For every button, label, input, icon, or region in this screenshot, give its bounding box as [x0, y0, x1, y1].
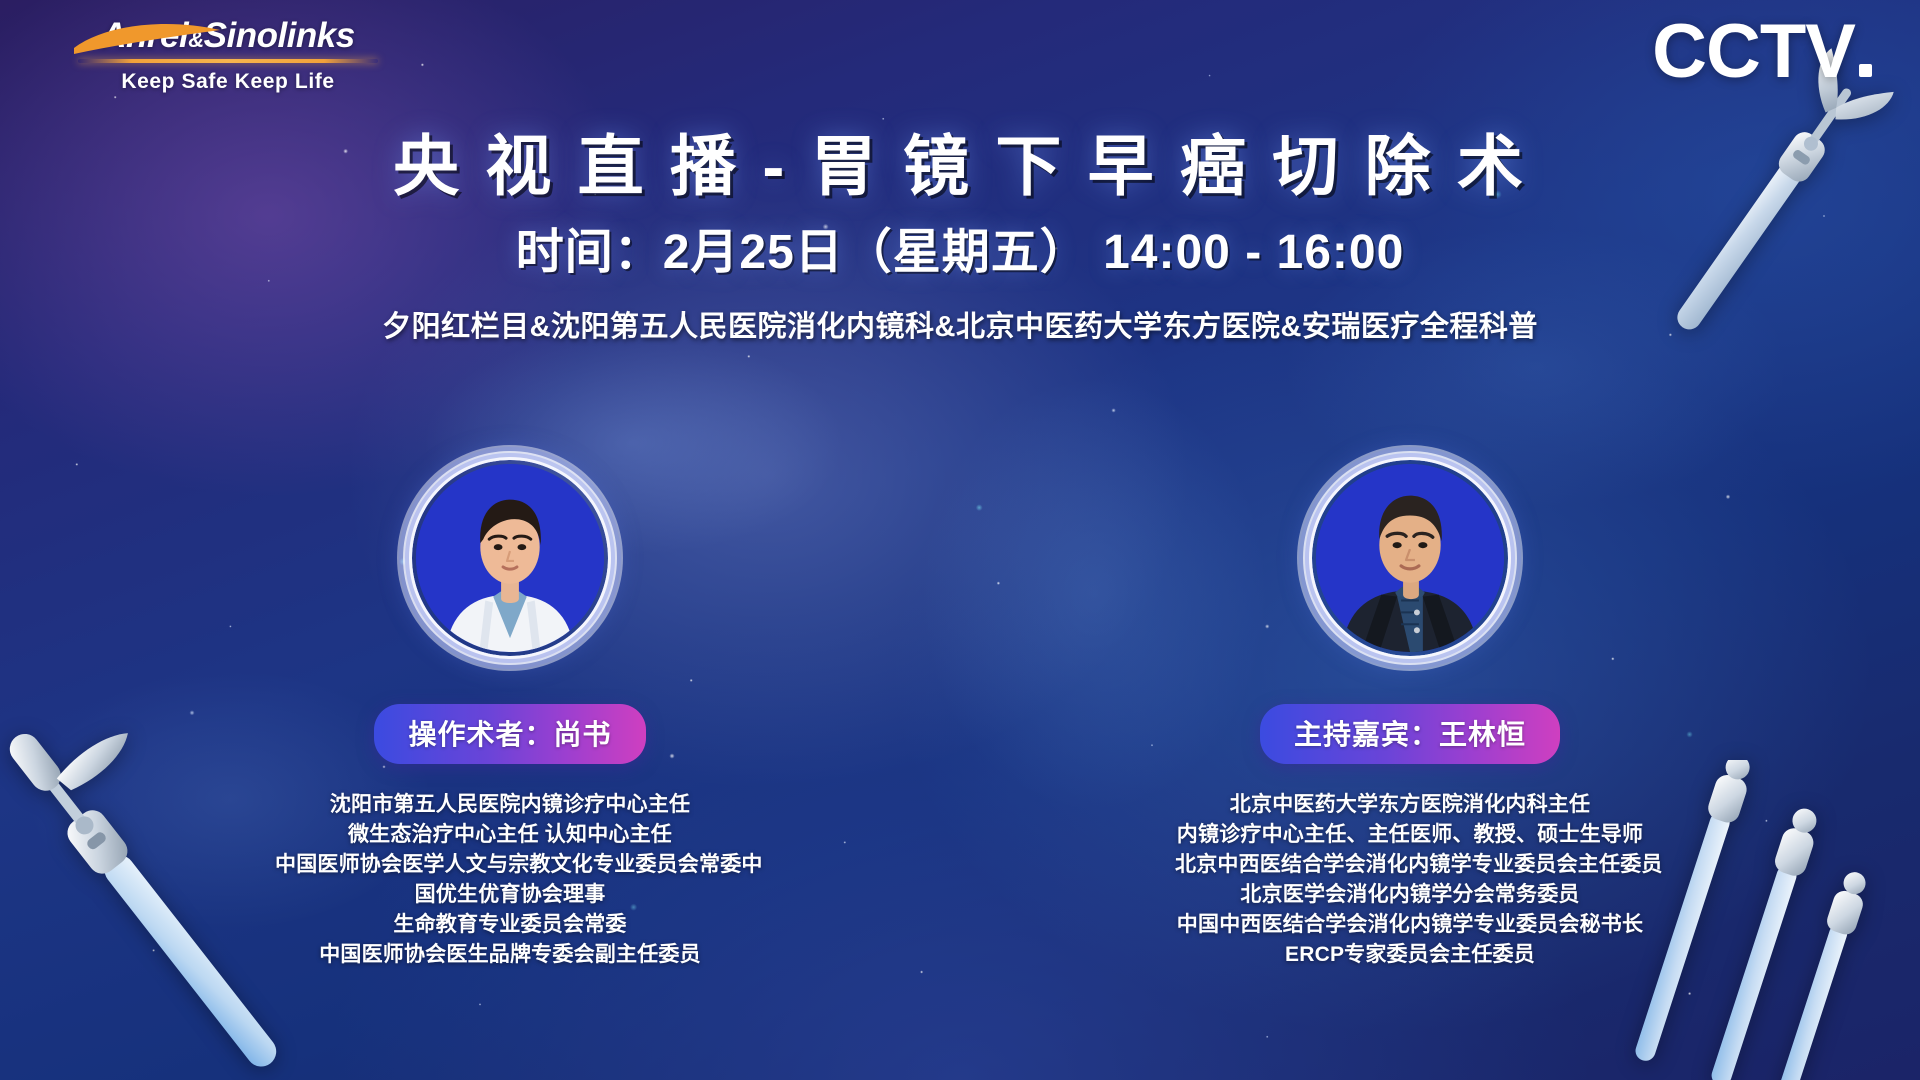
speaker-operator: 操作术者：尚书 沈阳市第五人民医院内镜诊疗中心主任 微生态治疗中心主任 认知中心… — [275, 460, 745, 970]
credential-item: 中国中西医结合学会消化内镜学专业委员会秘书长 — [1175, 910, 1645, 940]
credential-item: 北京医学会消化内镜学分会常务委员 — [1175, 880, 1645, 910]
brand-logo: Anrei&Sinolinks Keep Safe Keep Life — [68, 16, 388, 94]
brand-tagline: Keep Safe Keep Life — [68, 70, 388, 94]
avatar-ring-decoration — [1312, 460, 1508, 656]
event-time: 时间：2月25日（星期五） 14:00 - 16:00 — [0, 224, 1920, 282]
brand-name-part2: Sinolinks — [204, 16, 355, 55]
credential-item: 北京中医药大学东方医院消化内科主任 — [1175, 790, 1645, 820]
cctv-logo-text: CCTV — [1652, 9, 1855, 94]
credential-item: 北京中西医结合学会消化内镜学专业委员会主任委员 — [1175, 850, 1645, 880]
avatar — [1312, 460, 1508, 656]
speaker-name-badge: 主持嘉宾：王林恒 — [1260, 704, 1560, 764]
cctv-logo-dot-icon — [1859, 64, 1872, 77]
speaker-credentials: 北京中医药大学东方医院消化内科主任 内镜诊疗中心主任、主任医师、教授、硕士生导师… — [1175, 790, 1645, 970]
avatar-ring-decoration — [412, 460, 608, 656]
brand-ampersand: & — [188, 27, 203, 52]
credential-item: 中国医师协会医学人文与宗教文化专业委员会常委中 — [275, 850, 745, 880]
speakers-section: 操作术者：尚书 沈阳市第五人民医院内镜诊疗中心主任 微生态治疗中心主任 认知中心… — [0, 460, 1920, 970]
credential-item: 微生态治疗中心主任 认知中心主任 — [275, 820, 745, 850]
headline-block: 央 视 直 播 - 胃 镜 下 早 癌 切 除 术 时间：2月25日（星期五） … — [0, 128, 1920, 345]
credential-item: 国优生优育协会理事 — [275, 880, 745, 910]
organizers-line: 夕阳红栏目&沈阳第五人民医院消化内镜科&北京中医药大学东方医院&安瑞医疗全程科普 — [0, 303, 1920, 345]
credential-item: 中国医师协会医生品牌专委会副主任委员 — [275, 940, 745, 970]
live-broadcast-poster: Anrei&Sinolinks Keep Safe Keep Life CCTV… — [0, 0, 1920, 1080]
speaker-host: 主持嘉宾：王林恒 北京中医药大学东方医院消化内科主任 内镜诊疗中心主任、主任医师… — [1175, 460, 1645, 970]
cctv-logo: CCTV — [1652, 14, 1872, 90]
credential-item: 沈阳市第五人民医院内镜诊疗中心主任 — [275, 790, 745, 820]
avatar — [412, 460, 608, 656]
credential-item: ERCP专家委员会主任委员 — [1175, 940, 1645, 970]
speaker-credentials: 沈阳市第五人民医院内镜诊疗中心主任 微生态治疗中心主任 认知中心主任 中国医师协… — [275, 790, 745, 970]
brand-wordmark: Anrei&Sinolinks — [68, 16, 388, 56]
speaker-name-badge: 操作术者：尚书 — [374, 704, 645, 764]
brand-name-part1: Anrei — [101, 16, 188, 55]
credential-item: 内镜诊疗中心主任、主任医师、教授、硕士生导师 — [1175, 820, 1645, 850]
credential-item: 生命教育专业委员会常委 — [275, 910, 745, 940]
brand-underline-rule — [78, 59, 378, 63]
page-title: 央 视 直 播 - 胃 镜 下 早 癌 切 除 术 — [0, 128, 1920, 206]
